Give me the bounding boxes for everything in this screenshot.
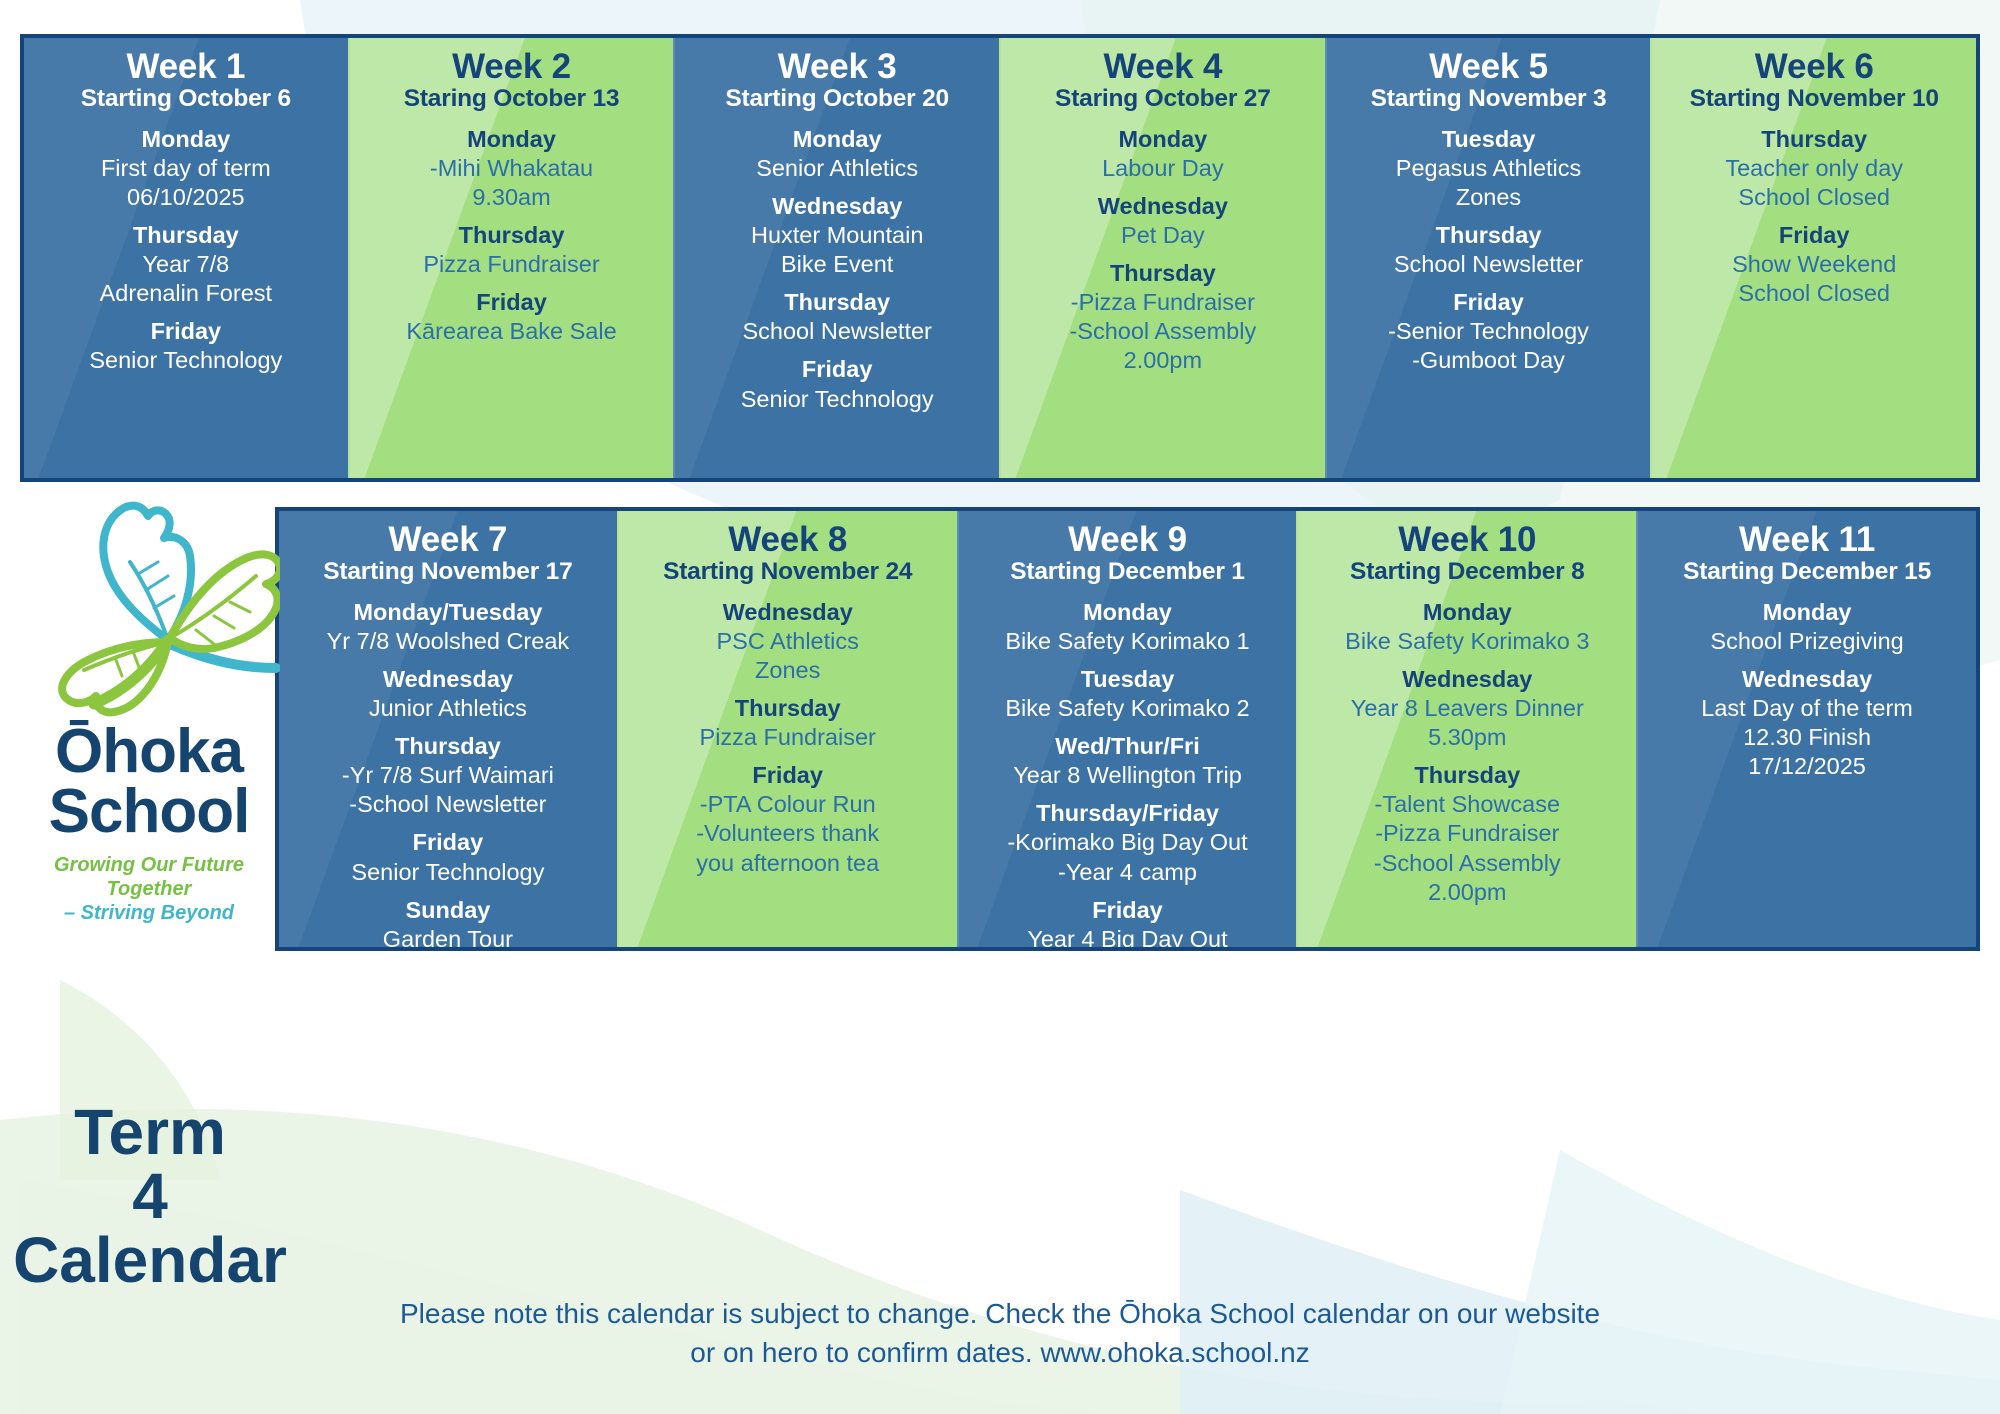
week-subtitle: Staring October 27 — [1007, 85, 1319, 112]
event-day-label: Monday — [1644, 598, 1970, 627]
event-day-label: Thursday — [30, 221, 342, 250]
event-detail-line: 17/12/2025 — [1644, 752, 1970, 781]
week-subtitle: Starting October 20 — [681, 85, 993, 112]
event-entry: Wed/Thur/FriYear 8 Wellington Trip — [965, 732, 1291, 790]
footer-line2: or on hero to confirm dates. www.ohoka.s… — [300, 1334, 1700, 1373]
event-detail-line: Show Weekend — [1658, 250, 1970, 279]
week-content: Week 3Starting October 20MondaySenior At… — [681, 48, 993, 414]
week-content: Week 11Starting December 15MondaySchool … — [1644, 521, 1970, 781]
event-entry: MondayLabour Day — [1007, 125, 1319, 183]
event-entry: ThursdaySchool Newsletter — [681, 288, 993, 346]
event-detail-line: 2.00pm — [1304, 878, 1630, 907]
event-detail-line: -PTA Colour Run — [625, 790, 951, 819]
event-entry: WednesdayYear 8 Leavers Dinner5.30pm — [1304, 665, 1630, 752]
event-day-label: Sunday — [285, 896, 611, 925]
week-column-7[interactable]: Week 7Starting November 17Monday/Tuesday… — [279, 511, 617, 947]
event-day-label: Friday — [1333, 288, 1645, 317]
event-detail-line: Adrenalin Forest — [30, 279, 342, 308]
event-detail-line: Year 7/8 — [30, 250, 342, 279]
event-detail-line: -Mihi Whakatau — [356, 154, 668, 183]
event-detail-line: School Newsletter — [681, 317, 993, 346]
event-detail-line: -Volunteers thank — [625, 819, 951, 848]
event-detail-line: -Pizza Fundraiser — [1007, 288, 1319, 317]
event-detail-line: School Prizegiving — [1644, 627, 1970, 656]
week-column-6[interactable]: Week 6Starting November 10ThursdayTeache… — [1650, 38, 1976, 478]
event-entry: MondayBike Safety Korimako 1 — [965, 598, 1291, 656]
event-detail-line: Pet Day — [1007, 221, 1319, 250]
event-detail-line: Senior Technology — [285, 858, 611, 887]
event-entry: WednesdayPet Day — [1007, 192, 1319, 250]
event-entry: ThursdayYear 7/8Adrenalin Forest — [30, 221, 342, 308]
footer-note: Please note this calendar is subject to … — [300, 1295, 1700, 1372]
event-day-label: Wednesday — [285, 665, 611, 694]
event-day-label: Thursday — [356, 221, 668, 250]
event-detail-line: Zones — [1333, 183, 1645, 212]
event-detail-line: -School Assembly — [1304, 849, 1630, 878]
week-column-11[interactable]: Week 11Starting December 15MondaySchool … — [1636, 511, 1976, 947]
event-detail-line: -Talent Showcase — [1304, 790, 1630, 819]
week-column-1[interactable]: Week 1Starting October 6MondayFirst day … — [24, 38, 348, 478]
event-detail-line: you afternoon tea — [625, 849, 951, 878]
event-entry: TuesdayBike Safety Korimako 2 — [965, 665, 1291, 723]
event-entry: MondaySenior Athletics — [681, 125, 993, 183]
event-day-label: Wednesday — [1304, 665, 1630, 694]
event-detail-line: Bike Safety Korimako 1 — [965, 627, 1291, 656]
event-day-label: Monday — [30, 125, 342, 154]
week-title: Week 6 — [1658, 48, 1970, 85]
week-title: Week 10 — [1304, 521, 1630, 558]
event-detail-line: -Year 4 camp — [965, 858, 1291, 887]
school-branding: Ōhoka School Growing Our Future Together… — [18, 490, 280, 1090]
event-detail-line: Bike Event — [681, 250, 993, 279]
week-title: Week 8 — [625, 521, 951, 558]
event-detail-line: First day of term — [30, 154, 342, 183]
event-entry: SundayGarden Tour — [285, 896, 611, 947]
week-column-2[interactable]: Week 2Staring October 13Monday-Mihi Whak… — [348, 38, 674, 478]
event-day-label: Monday — [1007, 125, 1319, 154]
event-detail-line: PSC Athletics — [625, 627, 951, 656]
event-day-label: Monday — [965, 598, 1291, 627]
event-entry: Monday/TuesdayYr 7/8 Woolshed Creak — [285, 598, 611, 656]
three-leaf-icon — [18, 490, 280, 720]
event-detail-line: -Pizza Fundraiser — [1304, 819, 1630, 848]
week-subtitle: Starting December 15 — [1644, 558, 1970, 585]
event-detail-line: -Senior Technology — [1333, 317, 1645, 346]
week-subtitle: Starting December 1 — [965, 558, 1291, 585]
event-detail-line: 9.30am — [356, 183, 668, 212]
week-column-8[interactable]: Week 8Starting November 24WednesdayPSC A… — [617, 511, 957, 947]
event-detail-line: Bike Safety Korimako 2 — [965, 694, 1291, 723]
week-column-9[interactable]: Week 9Starting December 1MondayBike Safe… — [957, 511, 1297, 947]
calendar-row-bottom: Week 7Starting November 17Monday/Tuesday… — [275, 507, 1980, 951]
week-content: Week 4Staring October 27MondayLabour Day… — [1007, 48, 1319, 376]
event-day-label: Wednesday — [681, 192, 993, 221]
event-day-label: Friday — [681, 355, 993, 384]
event-detail-line: Junior Athletics — [285, 694, 611, 723]
event-detail-line: Kārearea Bake Sale — [356, 317, 668, 346]
event-entry: FridayShow WeekendSchool Closed — [1658, 221, 1970, 308]
event-detail-line: Yr 7/8 Woolshed Creak — [285, 627, 611, 656]
event-entry: WednesdayLast Day of the term12.30 Finis… — [1644, 665, 1970, 782]
event-day-label: Wed/Thur/Fri — [965, 732, 1291, 761]
event-day-label: Thursday — [1304, 761, 1630, 790]
tagline-line2: – Striving Beyond — [18, 901, 280, 925]
event-entry: FridaySenior Technology — [285, 828, 611, 886]
week-subtitle: Starting November 24 — [625, 558, 951, 585]
event-detail-line: Labour Day — [1007, 154, 1319, 183]
event-day-label: Thursday/Friday — [965, 799, 1291, 828]
event-day-label: Wednesday — [1644, 665, 1970, 694]
term-calendar-word: Calendar — [10, 1228, 290, 1292]
event-day-label: Friday — [965, 896, 1291, 925]
event-day-label: Thursday — [285, 732, 611, 761]
event-detail-line: Huxter Mountain — [681, 221, 993, 250]
event-entry: Friday-PTA Colour Run-Volunteers thankyo… — [625, 761, 951, 878]
event-entry: Thursday-Pizza Fundraiser-School Assembl… — [1007, 259, 1319, 376]
event-detail-line: Last Day of the term — [1644, 694, 1970, 723]
week-title: Week 2 — [356, 48, 668, 85]
event-entry: MondayFirst day of term06/10/2025 — [30, 125, 342, 212]
week-subtitle: Starting November 10 — [1658, 85, 1970, 112]
event-day-label: Thursday — [1333, 221, 1645, 250]
event-day-label: Thursday — [1658, 125, 1970, 154]
event-entry: FridayKārearea Bake Sale — [356, 288, 668, 346]
week-subtitle: Starting October 6 — [30, 85, 342, 112]
tagline-line1: Growing Our Future Together — [18, 853, 280, 901]
event-detail-line: -Korimako Big Day Out — [965, 828, 1291, 857]
event-day-label: Thursday — [681, 288, 993, 317]
week-column-4[interactable]: Week 4Staring October 27MondayLabour Day… — [999, 38, 1325, 478]
week-content: Week 10Starting December 8MondayBike Saf… — [1304, 521, 1630, 907]
event-detail-line: Year 8 Wellington Trip — [965, 761, 1291, 790]
week-content: Week 5Starting November 3TuesdayPegasus … — [1333, 48, 1645, 376]
event-entry: ThursdaySchool Newsletter — [1333, 221, 1645, 279]
term-title-block: Term 4 Calendar — [10, 1100, 290, 1292]
event-detail-line: 06/10/2025 — [30, 183, 342, 212]
event-detail-line: -School Assembly — [1007, 317, 1319, 346]
week-title: Week 3 — [681, 48, 993, 85]
event-entry: Thursday/Friday-Korimako Big Day Out-Yea… — [965, 799, 1291, 886]
event-detail-line: 12.30 Finish — [1644, 723, 1970, 752]
week-content: Week 6Starting November 10ThursdayTeache… — [1658, 48, 1970, 308]
event-detail-line: 5.30pm — [1304, 723, 1630, 752]
event-day-label: Wednesday — [625, 598, 951, 627]
event-day-label: Friday — [625, 761, 951, 790]
week-title: Week 4 — [1007, 48, 1319, 85]
event-detail-line: Teacher only day — [1658, 154, 1970, 183]
term-calendar-page: Week 1Starting October 6MondayFirst day … — [0, 0, 2000, 1414]
event-day-label: Monday/Tuesday — [285, 598, 611, 627]
event-detail-line: Senior Athletics — [681, 154, 993, 183]
week-column-10[interactable]: Week 10Starting December 8MondayBike Saf… — [1296, 511, 1636, 947]
week-column-3[interactable]: Week 3Starting October 20MondaySenior At… — [673, 38, 999, 478]
week-title: Week 5 — [1333, 48, 1645, 85]
event-entry: ThursdayPizza Fundraiser — [625, 694, 951, 752]
event-detail-line: Pegasus Athletics — [1333, 154, 1645, 183]
term-word: Term — [10, 1100, 290, 1164]
event-entry: Friday-Senior Technology-Gumboot Day — [1333, 288, 1645, 375]
event-detail-line: -Gumboot Day — [1333, 346, 1645, 375]
week-column-5[interactable]: Week 5Starting November 3TuesdayPegasus … — [1325, 38, 1651, 478]
event-detail-line: -Yr 7/8 Surf Waimari — [285, 761, 611, 790]
school-name: Ōhoka School — [18, 722, 280, 841]
event-day-label: Thursday — [1007, 259, 1319, 288]
week-title: Week 9 — [965, 521, 1291, 558]
event-entry: WednesdayHuxter MountainBike Event — [681, 192, 993, 279]
week-subtitle: Starting December 8 — [1304, 558, 1630, 585]
leaf-green-left-shape — [62, 642, 168, 712]
week-content: Week 9Starting December 1MondayBike Safe… — [965, 521, 1291, 947]
event-detail-line: School Newsletter — [1333, 250, 1645, 279]
event-entry: Monday-Mihi Whakatau9.30am — [356, 125, 668, 212]
week-title: Week 7 — [285, 521, 611, 558]
event-day-label: Monday — [1304, 598, 1630, 627]
event-entry: FridayYear 4 Big Day Out — [965, 896, 1291, 947]
school-name-line1: Ōhoka — [18, 722, 280, 782]
week-content: Week 2Staring October 13Monday-Mihi Whak… — [356, 48, 668, 346]
event-day-label: Thursday — [625, 694, 951, 723]
event-entry: Thursday-Yr 7/8 Surf Waimari-School News… — [285, 732, 611, 819]
event-detail-line: Pizza Fundraiser — [625, 723, 951, 752]
week-subtitle: Starting November 3 — [1333, 85, 1645, 112]
event-day-label: Monday — [681, 125, 993, 154]
event-day-label: Friday — [356, 288, 668, 317]
calendar-row-top: Week 1Starting October 6MondayFirst day … — [20, 34, 1980, 482]
footer-line1: Please note this calendar is subject to … — [300, 1295, 1700, 1334]
event-detail-line: -School Newsletter — [285, 790, 611, 819]
event-day-label: Monday — [356, 125, 668, 154]
swoosh-teal-bottom-2 — [1500, 1150, 2000, 1414]
event-day-label: Friday — [30, 317, 342, 346]
event-entry: Thursday-Talent Showcase-Pizza Fundraise… — [1304, 761, 1630, 907]
event-detail-line: Year 8 Leavers Dinner — [1304, 694, 1630, 723]
event-detail-line: Bike Safety Korimako 3 — [1304, 627, 1630, 656]
week-content: Week 8Starting November 24WednesdayPSC A… — [625, 521, 951, 878]
event-detail-line: Senior Technology — [681, 385, 993, 414]
week-title: Week 11 — [1644, 521, 1970, 558]
week-content: Week 1Starting October 6MondayFirst day … — [30, 48, 342, 376]
event-day-label: Friday — [285, 828, 611, 857]
event-detail-line: 2.00pm — [1007, 346, 1319, 375]
event-day-label: Tuesday — [1333, 125, 1645, 154]
event-day-label: Tuesday — [965, 665, 1291, 694]
event-detail-line: Year 4 Big Day Out — [965, 925, 1291, 947]
week-subtitle: Starting November 17 — [285, 558, 611, 585]
event-detail-line: Senior Technology — [30, 346, 342, 375]
event-entry: WednesdayJunior Athletics — [285, 665, 611, 723]
event-detail-line: Zones — [625, 656, 951, 685]
event-entry: MondaySchool Prizegiving — [1644, 598, 1970, 656]
event-detail-line: Pizza Fundraiser — [356, 250, 668, 279]
event-entry: ThursdayTeacher only daySchool Closed — [1658, 125, 1970, 212]
week-content: Week 7Starting November 17Monday/Tuesday… — [285, 521, 611, 947]
event-detail-line: School Closed — [1658, 279, 1970, 308]
week-title: Week 1 — [30, 48, 342, 85]
event-entry: FridaySenior Technology — [681, 355, 993, 413]
event-entry: TuesdayPegasus AthleticsZones — [1333, 125, 1645, 212]
event-entry: MondayBike Safety Korimako 3 — [1304, 598, 1630, 656]
event-day-label: Wednesday — [1007, 192, 1319, 221]
school-name-line2: School — [18, 782, 280, 842]
event-entry: FridaySenior Technology — [30, 317, 342, 375]
term-number: 4 — [10, 1164, 290, 1228]
week-subtitle: Staring October 13 — [356, 85, 668, 112]
event-entry: ThursdayPizza Fundraiser — [356, 221, 668, 279]
event-detail-line: School Closed — [1658, 183, 1970, 212]
event-day-label: Friday — [1658, 221, 1970, 250]
event-entry: WednesdayPSC AthleticsZones — [625, 598, 951, 685]
event-detail-line: Garden Tour — [285, 925, 611, 947]
